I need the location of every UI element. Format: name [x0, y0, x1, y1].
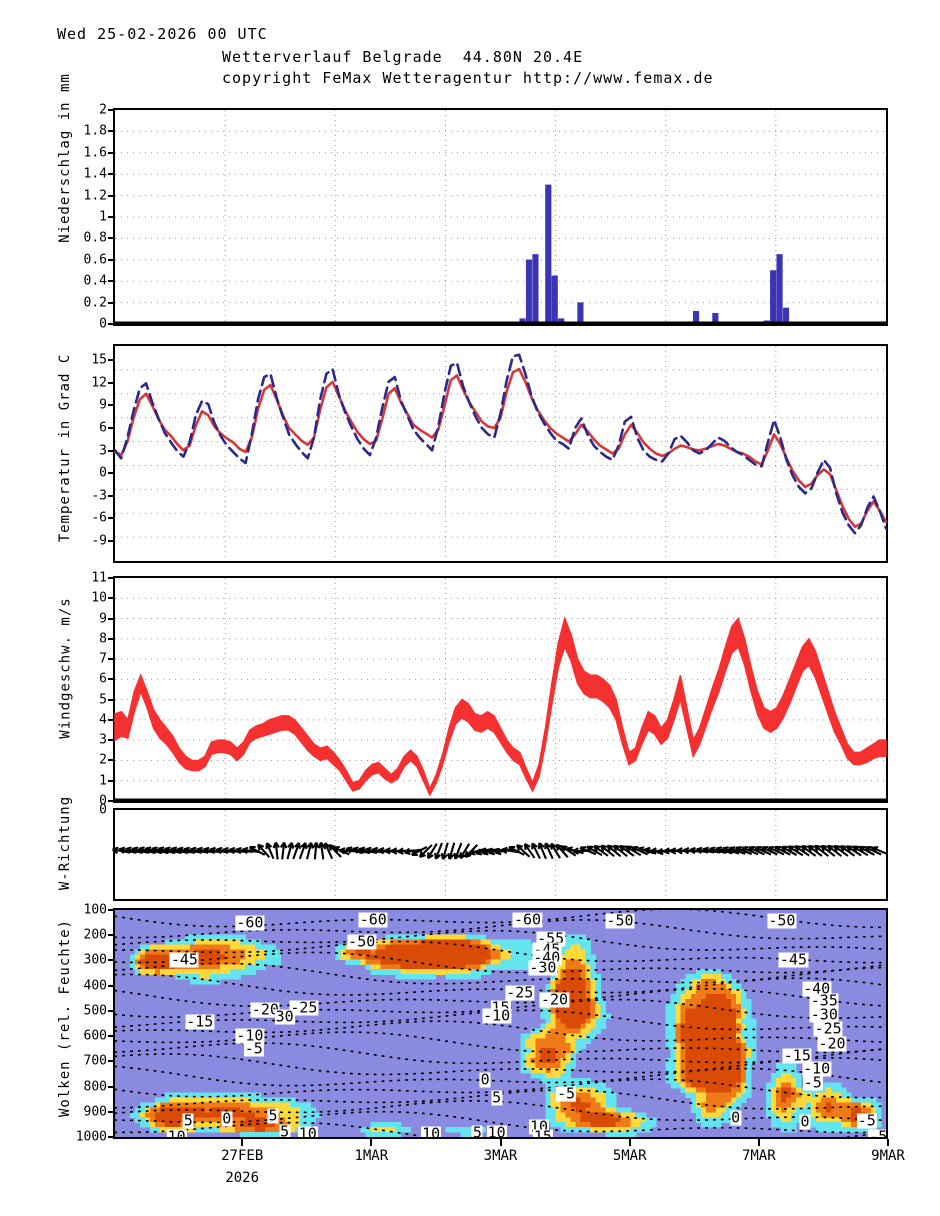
- y-tick-label: 11: [49, 571, 107, 586]
- y-tick-label: 2: [49, 103, 107, 118]
- windspeed-panel: [113, 576, 888, 803]
- y-tick-label: 1: [49, 210, 107, 225]
- cloud-contour-label: 10: [167, 1130, 187, 1140]
- x-tick-label: 3MAR: [484, 1148, 518, 1164]
- y-tick-label: 0: [49, 803, 107, 818]
- cloud-contour-label: -25: [505, 986, 534, 1001]
- y-tick-label: 1.6: [49, 145, 107, 160]
- precipitation-panel: [113, 108, 888, 326]
- x-tick-label: 27FEB: [221, 1148, 263, 1164]
- y-tick-label: 900: [49, 1104, 107, 1119]
- y-tick-label: 0.2: [49, 295, 107, 310]
- y-tick-label: 600: [49, 1029, 107, 1044]
- y-tick-label: 3: [49, 733, 107, 748]
- cloud-contour-label: -5: [244, 1041, 264, 1056]
- y-tick-label: 8: [49, 631, 107, 646]
- clouds-panel: -60-45-20-2530-15-10-550105510-60-501051…: [113, 908, 888, 1139]
- y-tick-label: 4: [49, 712, 107, 727]
- cloud-contour-label: 15: [533, 1130, 553, 1140]
- y-tick-label: 6: [49, 420, 107, 435]
- x-tick-mark: [241, 1139, 243, 1146]
- cloud-contour-labels: -60-45-20-2530-15-10-550105510-60-501051…: [115, 910, 886, 1137]
- y-tick-label: 12: [49, 375, 107, 390]
- x-tick-label: 5MAR: [613, 1148, 647, 1164]
- x-tick-mark: [629, 1139, 631, 1146]
- y-tick-label: 6: [49, 672, 107, 687]
- cloud-contour-label: 0: [221, 1112, 232, 1127]
- y-tick-label: -6: [49, 511, 107, 526]
- winddirection-panel: [113, 808, 888, 901]
- x-axis-year: 2026: [225, 1170, 259, 1186]
- y-tick-label: 200: [49, 928, 107, 943]
- y-tick-label: 800: [49, 1079, 107, 1094]
- cloud-contour-label: -30: [528, 961, 557, 976]
- y-tick-label: 1.2: [49, 188, 107, 203]
- y-tick-label: 7: [49, 652, 107, 667]
- y-tick-label: 500: [49, 1003, 107, 1018]
- x-tick-mark: [887, 1139, 889, 1146]
- cloud-contour-label: 10: [487, 1126, 507, 1139]
- cloud-contour-label: 0: [730, 1111, 741, 1126]
- y-tick-label: 10: [49, 591, 107, 606]
- cloud-contour-label: -60: [359, 913, 388, 928]
- windspeed-band: [115, 619, 886, 795]
- x-tick-label: 1MAR: [354, 1148, 388, 1164]
- cloud-contour-label: -60: [513, 913, 542, 928]
- y-tick-label: 400: [49, 978, 107, 993]
- cloud-contour-label: 5: [472, 1126, 483, 1139]
- cloud-contour-label: 10: [421, 1127, 441, 1139]
- cloud-contour-label: -15: [185, 1015, 214, 1030]
- cloud-contour-label: -50: [347, 935, 376, 950]
- header-title: Wetterverlauf Belgrade 44.80N 20.4E: [222, 48, 583, 66]
- cloud-contour-label: 5: [183, 1113, 194, 1128]
- header-copyright: copyright FeMax Wetteragentur http://www…: [222, 69, 714, 87]
- cloud-contour-label: -5: [857, 1113, 877, 1128]
- y-tick-label: 9: [49, 611, 107, 626]
- y-tick-label: 0.6: [49, 252, 107, 267]
- x-tick-label: 7MAR: [742, 1148, 776, 1164]
- cloud-contour-label: -5: [868, 1130, 888, 1140]
- y-tick-label: 0.8: [49, 231, 107, 246]
- x-tick-mark: [370, 1139, 372, 1146]
- x-tick-mark: [758, 1139, 760, 1146]
- y-tick-label: 2: [49, 753, 107, 768]
- cloud-contour-label: -50: [767, 914, 796, 929]
- y-tick-label: -9: [49, 534, 107, 549]
- cloud-contour-label: -45: [170, 953, 199, 968]
- cloud-contour-label: 30: [275, 1010, 295, 1025]
- y-tick-label: 0.4: [49, 274, 107, 289]
- x-tick-label: 9MAR: [871, 1148, 905, 1164]
- y-tick-label: 15: [49, 353, 107, 368]
- y-tick-label: 100: [49, 903, 107, 918]
- x-tick-mark: [500, 1139, 502, 1146]
- y-tick-label: 1.4: [49, 167, 107, 182]
- cloud-contour-label: 5: [268, 1108, 279, 1123]
- y-tick-label: 1.8: [49, 124, 107, 139]
- temperature-panel: [113, 344, 888, 563]
- cloud-contour-label: -20: [540, 992, 569, 1007]
- cloud-contour-label: 5: [491, 1090, 502, 1105]
- cloud-contour-label: 0: [800, 1114, 811, 1129]
- cloud-contour-label: 5: [279, 1124, 290, 1139]
- y-tick-label: 5: [49, 692, 107, 707]
- y-tick-label: 0: [49, 466, 107, 481]
- cloud-contour-label: -45: [779, 953, 808, 968]
- header-datetime: Wed 25-02-2026 00 UTC: [57, 25, 268, 43]
- precipitation-bars: [520, 185, 789, 324]
- cloud-contour-label: -10: [482, 1008, 511, 1023]
- cloud-contour-label: -60: [235, 915, 264, 930]
- cloud-contour-label: -5: [556, 1087, 576, 1102]
- cloud-contour-label: -20: [817, 1036, 846, 1051]
- y-tick-label: 1000: [49, 1130, 107, 1145]
- cloud-contour-label: 10: [298, 1127, 318, 1139]
- cloud-contour-label: -5: [803, 1075, 823, 1090]
- cloud-contour-label: -50: [605, 914, 634, 929]
- y-tick-label: 3: [49, 443, 107, 458]
- y-tick-label: 9: [49, 398, 107, 413]
- wind-direction-arrows: [113, 842, 888, 859]
- y-tick-label: -3: [49, 488, 107, 503]
- cloud-contour-label: 0: [480, 1073, 491, 1088]
- y-tick-label: 300: [49, 953, 107, 968]
- y-tick-label: 700: [49, 1054, 107, 1069]
